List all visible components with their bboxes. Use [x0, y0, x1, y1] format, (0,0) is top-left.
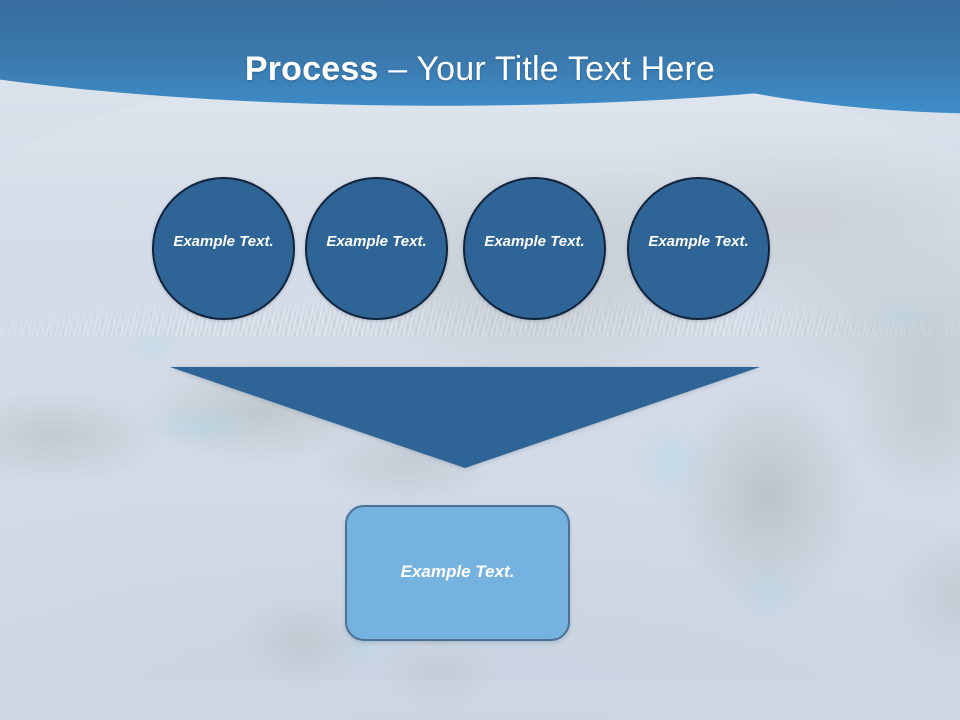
slide-canvas: Process – Your Title Text Here Example T…: [0, 0, 960, 720]
page-title-strong: Process: [245, 50, 379, 88]
page-title-separator: –: [379, 50, 417, 88]
process-step-label: Example Text.: [171, 231, 276, 252]
page-title: Process – Your Title Text Here: [0, 50, 960, 89]
page-title-light: Your Title Text Here: [416, 50, 715, 88]
process-result-label: Example Text.: [401, 562, 515, 582]
down-triangle-arrow-icon[interactable]: [170, 367, 760, 468]
process-step-circle-3[interactable]: Example Text.: [463, 177, 606, 320]
process-result-box[interactable]: Example Text.: [345, 505, 570, 641]
process-step-circle-2[interactable]: Example Text.: [305, 177, 448, 320]
process-step-label: Example Text.: [324, 231, 429, 252]
process-step-label: Example Text.: [482, 231, 587, 252]
process-step-label: Example Text.: [646, 231, 751, 252]
process-step-circle-1[interactable]: Example Text.: [152, 177, 295, 320]
process-steps-row: Example Text. Example Text. Example Text…: [152, 177, 772, 322]
process-step-circle-4[interactable]: Example Text.: [627, 177, 770, 320]
